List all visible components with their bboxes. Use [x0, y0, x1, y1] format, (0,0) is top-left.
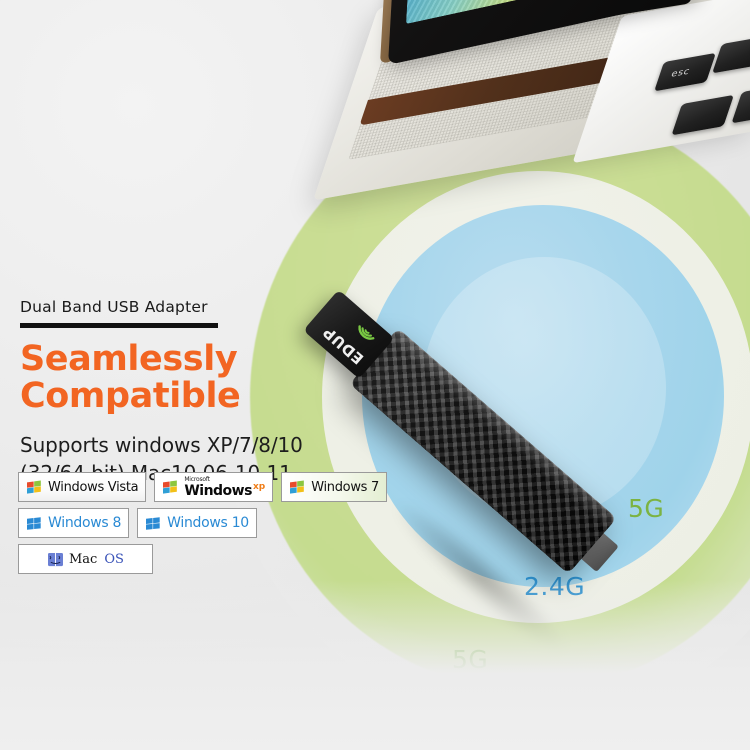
windows-flag-icon: [26, 480, 43, 495]
badge-label: Mac: [69, 552, 97, 567]
windows-word: Windows: [184, 484, 252, 498]
badge-label: Windows 10: [167, 515, 249, 531]
finder-face-icon: [47, 552, 64, 567]
windows-pane-icon: [145, 516, 162, 531]
badge-mac-os: Mac OS: [18, 544, 153, 574]
badge-label: Microsoft Windows xp: [184, 477, 265, 498]
badge-windows-xp: Microsoft Windows xp: [154, 472, 273, 502]
badge-row-2: Windows 8 Windows 10: [18, 508, 428, 538]
support-line-1: Supports windows XP/7/8/10: [20, 431, 450, 459]
badge-label: Windows 8: [48, 515, 121, 531]
badge-windows-10: Windows 10: [137, 508, 257, 538]
windows-pane-icon: [26, 516, 43, 531]
product-marketing-banner: 5G 2.4G 5G esc EDUP: [0, 0, 750, 750]
badge-label: Windows 7: [311, 480, 379, 495]
bottom-fade-overlay: [0, 580, 750, 750]
badge-windows-vista: Windows Vista: [18, 472, 146, 502]
badge-label: Windows Vista: [48, 480, 138, 495]
xp-superscript: xp: [253, 483, 265, 492]
badge-row-3: Mac OS: [18, 544, 428, 574]
eyebrow-underline: [20, 323, 218, 328]
laptop-illustration: esc: [330, 0, 750, 200]
windows-flag-icon: [289, 480, 306, 495]
windows-flag-icon: [162, 480, 179, 495]
badge-windows-8: Windows 8: [18, 508, 129, 538]
copy-block: Dual Band USB Adapter Seamlessly Compati…: [20, 298, 450, 487]
page-title: Seamlessly Compatible: [20, 341, 450, 415]
os-compatibility-badges: Windows Vista Microsoft Windows xp: [18, 472, 428, 580]
eyebrow-text: Dual Band USB Adapter: [20, 298, 450, 316]
badge-windows-7: Windows 7: [281, 472, 387, 502]
badge-row-1: Windows Vista Microsoft Windows xp: [18, 472, 428, 502]
badge-label-os: OS: [104, 552, 124, 567]
